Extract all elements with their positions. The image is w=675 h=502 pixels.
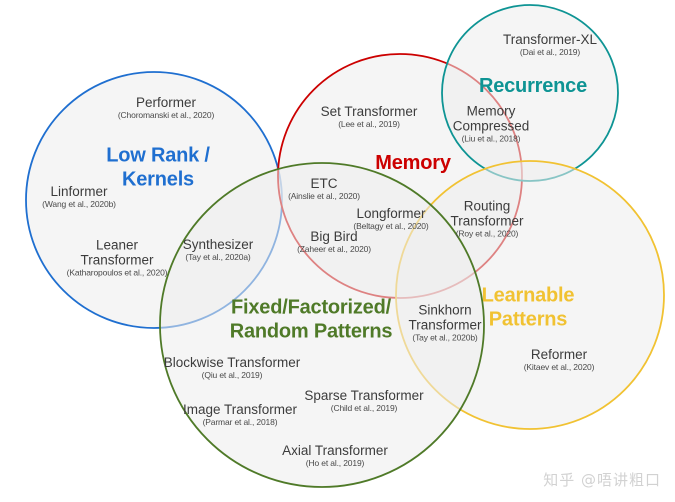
watermark: 知乎 @唔讲粗口 (543, 469, 661, 490)
venn-circle-fixed_factorized_random (160, 163, 484, 487)
venn-diagram-figure: Low Rank /KernelsMemoryRecurrenceLearnab… (0, 0, 675, 502)
venn-circles (0, 0, 675, 502)
venn-circle-recurrence (442, 5, 618, 181)
